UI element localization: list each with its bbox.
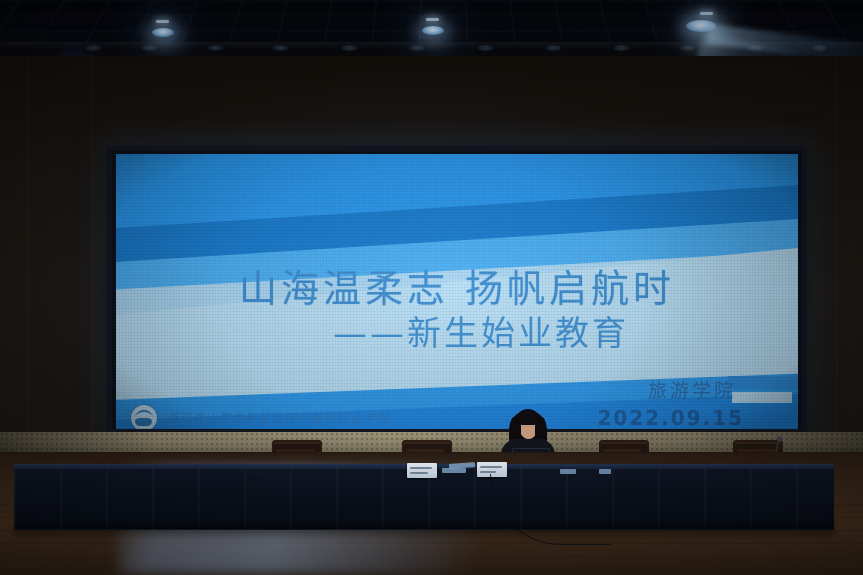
table-skirt [14,469,834,530]
ceiling-light-icon [546,45,561,51]
namecard-text-line [410,472,428,474]
slide-organization: 旅游学院 [648,376,736,403]
namecard-left [407,463,437,478]
lighting-truss [0,42,863,49]
presentation-slide: 山海温柔志 扬帆启航时 ——新生始业教育 旅游学院 2022.09.15 浙江舟… [116,154,798,429]
stage-light-spotlight-icon [686,20,716,32]
ceiling-light-icon [342,45,357,51]
stage-light-lit-icon [152,28,174,37]
ceiling-light-icon [748,45,763,51]
stage-light-lit-icon [422,26,444,35]
table-shadow [14,526,834,540]
ceiling-light-icon [273,45,288,51]
slide-subtitle: ——新生始业教育 [116,306,798,355]
institution-name: 浙江舟山群岛新区旅游与健康职业学院 [165,410,389,426]
stage-light-cap-icon [426,18,439,21]
ceiling-light-icon [614,45,629,51]
ceiling [0,0,863,58]
ceiling-light-icon [478,45,493,51]
ceiling-light-icon [680,45,695,51]
ceiling-light-icon [812,45,827,51]
ceiling-light-icon [142,45,157,51]
auditorium-scene: 山海温柔志 扬帆启航时 ——新生始业教育 旅游学院 2022.09.15 浙江舟… [0,0,863,575]
slide-content: 山海温柔志 扬帆启航时 ——新生始业教育 旅游学院 2022.09.15 浙江舟… [116,154,798,429]
stage-light-cap-icon [700,12,713,15]
paper-1 [442,468,466,473]
microphone-head-icon [777,436,782,442]
projection-screen[interactable]: 山海温柔志 扬帆启航时 ——新生始业教育 旅游学院 2022.09.15 浙江舟… [107,146,807,434]
namecard-text-line [410,467,432,469]
slide-footer: 浙江舟山群岛新区旅游与健康职业学院 [130,404,389,429]
ceiling-light-icon [86,45,101,51]
namecard-text-line [480,471,496,473]
wave-circle-logo-icon [130,404,158,429]
ceiling-light-icon [208,45,223,51]
ceiling-light-icon [409,45,424,51]
stage-light-cap-icon [156,20,169,23]
namecard-text-line [480,466,502,468]
slide-title: 山海温柔志 扬帆启航时 [116,258,798,313]
slide-date: 2022.09.15 [597,406,744,429]
